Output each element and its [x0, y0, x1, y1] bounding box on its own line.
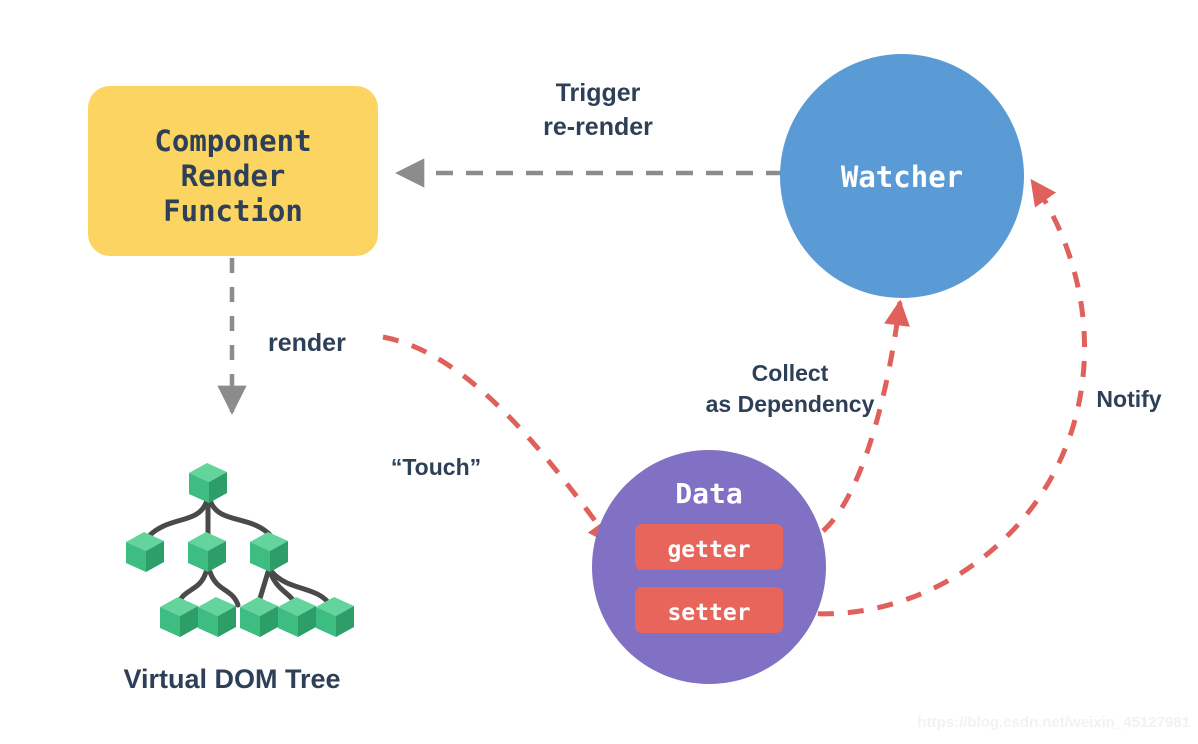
- tree-cube-l3-b: [198, 597, 236, 637]
- tree-cube-l3-d: [278, 597, 316, 637]
- reactivity-diagram: Trigger re-render render “Touch” Collect…: [0, 0, 1198, 744]
- data-label: Data: [675, 477, 742, 510]
- virtual-dom-tree-edges: [149, 500, 330, 605]
- edge-collect-as-dependency-label-line-2: as Dependency: [706, 391, 875, 417]
- data-member-setter[interactable]: setter: [635, 587, 783, 633]
- node-virtual-dom-tree[interactable]: Virtual DOM Tree: [123, 463, 354, 694]
- edge-trigger-rerender-label-line-2: re-render: [543, 113, 653, 141]
- tree-cube-l3-e: [316, 597, 354, 637]
- edge-render-label: render: [268, 329, 346, 357]
- setter-label: setter: [667, 600, 750, 626]
- diagram-canvas: Trigger re-render render “Touch” Collect…: [0, 0, 1198, 744]
- tree-cube-root: [189, 463, 227, 503]
- edge-trigger-rerender-label-line-1: Trigger: [556, 79, 641, 107]
- tree-edge-root-left: [149, 500, 207, 536]
- edge-touch-line: [383, 337, 612, 544]
- node-component-render-function[interactable]: Component Render Function: [88, 86, 378, 256]
- tree-cube-l2-left: [126, 532, 164, 572]
- edge-trigger-rerender: Trigger re-render: [398, 79, 783, 173]
- component-render-function-label-line-2: Render: [181, 159, 286, 193]
- tree-cube-l3-c: [240, 597, 278, 637]
- getter-label: getter: [667, 537, 750, 563]
- tree-cube-l2-right: [250, 532, 288, 572]
- edge-touch: “Touch”: [383, 337, 612, 544]
- virtual-dom-tree-label: Virtual DOM Tree: [123, 664, 340, 694]
- tree-cube-l3-a: [160, 597, 198, 637]
- watermark-text: https://blog.csdn.net/weixin_45127981: [917, 714, 1190, 731]
- component-render-function-label-line-3: Function: [163, 194, 303, 228]
- watcher-label: Watcher: [841, 160, 963, 194]
- edge-touch-label: “Touch”: [391, 454, 481, 480]
- tree-cube-l2-middle: [188, 532, 226, 572]
- component-render-function-label-line-1: Component: [154, 124, 311, 158]
- node-data[interactable]: Data getter setter: [592, 450, 826, 684]
- data-member-getter[interactable]: getter: [635, 524, 783, 570]
- node-watcher[interactable]: Watcher: [780, 54, 1024, 298]
- edge-notify-label: Notify: [1096, 386, 1161, 412]
- tree-edge-root-right: [210, 500, 271, 536]
- edge-collect-as-dependency-label-line-1: Collect: [752, 360, 829, 386]
- edge-render: render: [232, 258, 346, 412]
